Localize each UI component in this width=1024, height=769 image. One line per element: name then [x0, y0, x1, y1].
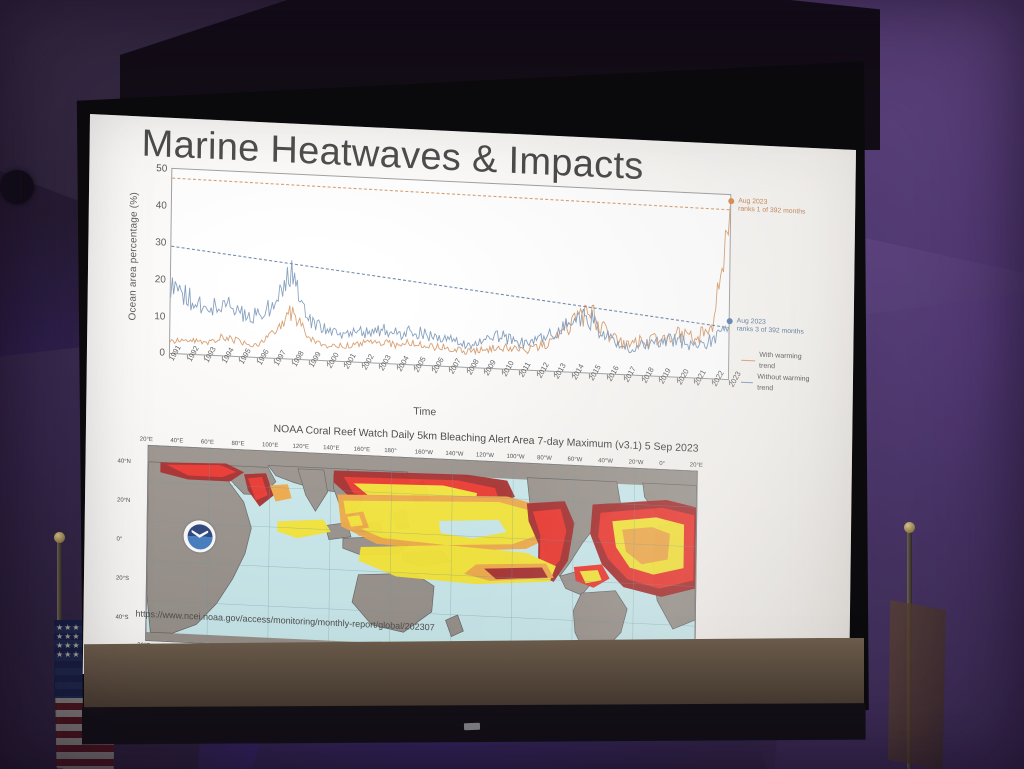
- map-lon-label-top: 0°: [659, 461, 665, 467]
- chart-x-tick-mark: [501, 369, 502, 372]
- screen-latch: [464, 723, 480, 731]
- noaa-logo-inner: [187, 523, 212, 549]
- chart-x-tick-mark: [309, 360, 310, 363]
- chart-x-tick-mark: [204, 355, 205, 358]
- map-lon-label-top: 100°W: [506, 454, 524, 461]
- chart-x-tick-mark: [571, 373, 572, 376]
- map-lon-label-top: 140°E: [323, 445, 339, 452]
- chart-y-tick-50: 50: [145, 163, 167, 175]
- map-lon-label-top: 20°W: [629, 460, 644, 467]
- chart-x-tick-mark: [186, 355, 187, 358]
- chart-plot-area: [169, 168, 731, 380]
- map-lat-label: 20°S: [116, 576, 129, 583]
- chart-x-tick-mark: [361, 363, 362, 366]
- chart-x-tick-mark: [256, 358, 257, 361]
- line-chart: Ocean area percentage (%) 50 40 30 20 10…: [128, 160, 821, 442]
- chart-x-tick-mark: [379, 364, 380, 367]
- chart-x-tick-mark: [554, 372, 555, 375]
- chart-x-tick-mark: [169, 354, 170, 357]
- map-lon-label-top: 20°E: [690, 462, 703, 469]
- chart-x-axis-label: Time: [413, 405, 436, 418]
- chart-x-tick-mark: [466, 368, 467, 371]
- flag-finial-left: [54, 532, 65, 543]
- map-lon-label-top: 80°E: [231, 441, 244, 448]
- chart-y-tick-10: 10: [143, 311, 165, 323]
- annotation-without-warming: Aug 2023 ranks 3 of 392 months: [737, 318, 804, 337]
- noaa-logo: [183, 520, 215, 554]
- chart-x-tick-mark: [729, 380, 730, 383]
- map-lat-label: 40°N: [117, 459, 130, 466]
- map-lon-label-top: 180°: [384, 448, 396, 455]
- map-lon-label-top: 20°E: [140, 437, 153, 444]
- map-lat-label: 40°S: [115, 615, 128, 622]
- legend-swatch-with-warming: [741, 359, 755, 361]
- map-lon-label-top: 160°E: [354, 447, 370, 454]
- map-lat-label: 0°: [116, 537, 122, 543]
- map-lon-label-top: 140°W: [445, 451, 463, 458]
- chart-x-tick-mark: [239, 357, 240, 360]
- chart-x-tick-mark: [449, 367, 450, 370]
- chart-legend: With warming trend Without warming trend: [741, 349, 820, 397]
- chart-x-tick-mark: [431, 366, 432, 369]
- chart-x-tick-mark: [221, 356, 222, 359]
- chart-y-tick-40: 40: [145, 200, 167, 212]
- chart-x-tick-mark: [676, 378, 677, 381]
- chart-svg: [170, 169, 730, 379]
- map-lon-label-top: 40°W: [598, 458, 613, 465]
- chart-y-axis-label: Ocean area percentage (%): [127, 192, 140, 321]
- chart-x-tick-mark: [414, 365, 415, 368]
- ceiling-speaker: [0, 170, 34, 204]
- chart-series-with-warming-trend: [170, 180, 730, 369]
- chart-y-tick-30: 30: [144, 237, 166, 249]
- chart-x-tick-mark: [641, 376, 642, 379]
- chart-y-tick-20: 20: [144, 274, 166, 286]
- annotation-dot-orange: [728, 198, 734, 204]
- chart-x-tick-mark: [274, 359, 275, 362]
- chart-x-tick-mark: [326, 361, 327, 364]
- map-lon-label-top: 80°W: [537, 455, 552, 462]
- map-lon-label-top: 120°E: [293, 444, 309, 451]
- projected-slide: Marine Heatwaves & Impacts Ocean area pe…: [83, 114, 856, 710]
- slide-surface: Marine Heatwaves & Impacts Ocean area pe…: [83, 114, 856, 710]
- annotation-dot-blue: [727, 318, 733, 324]
- map-lon-label-top: 160°W: [415, 449, 433, 456]
- map-canvas: [145, 445, 698, 667]
- with-warming-trend-line: [172, 178, 730, 210]
- map-lon-label-top: 100°E: [262, 442, 278, 449]
- map-lon-label-top: 60°E: [201, 439, 214, 446]
- chart-x-tick-mark: [624, 375, 625, 378]
- chart-x-tick-mark: [396, 365, 397, 368]
- chart-x-tick-mark: [519, 370, 520, 373]
- secondary-flag: [888, 600, 946, 769]
- chart-x-tick-mark: [344, 362, 345, 365]
- chart-x-tick-mark: [606, 374, 607, 377]
- chart-y-tick-0: 0: [143, 347, 165, 359]
- legend-swatch-without-warming: [741, 381, 753, 383]
- noaa-seagull-icon: [191, 530, 208, 539]
- chart-x-tick-mark: [694, 379, 695, 382]
- chart-x-tick-mark: [589, 374, 590, 377]
- legend-item-without-warming: Without warming trend: [741, 371, 819, 397]
- annotation-with-warming: Aug 2023 ranks 1 of 392 months: [738, 198, 805, 217]
- map-lon-label-top: 120°W: [476, 452, 494, 459]
- chart-x-tick-mark: [659, 377, 660, 380]
- map-svg: [146, 446, 697, 666]
- legend-label-with-warming: With warming trend: [759, 350, 819, 375]
- chart-x-tick-mark: [291, 360, 292, 363]
- legend-label-without-warming: Without warming trend: [757, 372, 819, 397]
- map-lon-label-top: 40°E: [170, 438, 183, 445]
- chart-x-tick-mark: [536, 371, 537, 374]
- chart-x-tick-mark: [484, 369, 485, 372]
- map-lon-label-top: 60°W: [568, 457, 583, 464]
- map-lat-label: 20°N: [117, 498, 130, 505]
- projector-screen: Marine Heatwaves & Impacts Ocean area pe…: [72, 58, 872, 748]
- chart-x-tick-mark: [711, 379, 712, 382]
- flag-finial-right: [904, 522, 915, 533]
